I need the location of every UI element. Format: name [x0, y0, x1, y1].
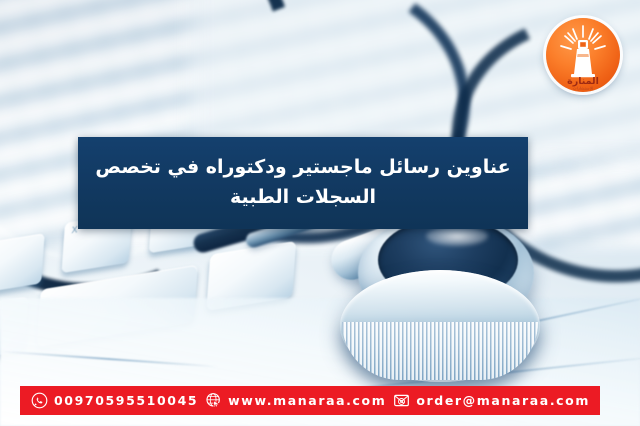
manaraa-logo[interactable]: المنارة للاستشارات [546, 18, 620, 92]
lighthouse-icon: المنارة للاستشارات [546, 18, 620, 92]
chest-piece-knurled-rim [342, 322, 538, 380]
globe-cursor-icon [204, 392, 222, 410]
contact-phone-label: 00970595510045 [54, 393, 198, 408]
chest-piece-glare [426, 226, 488, 246]
whatsapp-icon [30, 392, 48, 410]
headline-banner: عناوين رسائل ماجستير ودكتوراه في تخصص ال… [78, 137, 528, 229]
key-label-x: X [71, 225, 78, 236]
contact-item-phone[interactable]: 00970595510045 [30, 392, 198, 410]
contact-item-email[interactable]: order@manaraa.com [392, 392, 590, 410]
contact-item-website[interactable]: www.manaraa.com [204, 392, 386, 410]
headline-line-2: السجلات الطبية [230, 186, 376, 210]
svg-text:للاستشارات: للاستشارات [573, 86, 594, 91]
contact-bar: 00970595510045 www.manaraa.com [20, 386, 600, 415]
contact-email-label: order@manaraa.com [416, 393, 590, 408]
headline-line-1: عناوين رسائل ماجستير ودكتوراه في تخصص [95, 156, 510, 180]
stethoscope-chest-piece [330, 214, 548, 404]
email-envelope-icon [392, 392, 410, 410]
contact-website-label: www.manaraa.com [228, 393, 386, 408]
promo-banner-canvas: Z X Alt [0, 0, 640, 426]
keyboard-key-z: Z [0, 233, 45, 293]
